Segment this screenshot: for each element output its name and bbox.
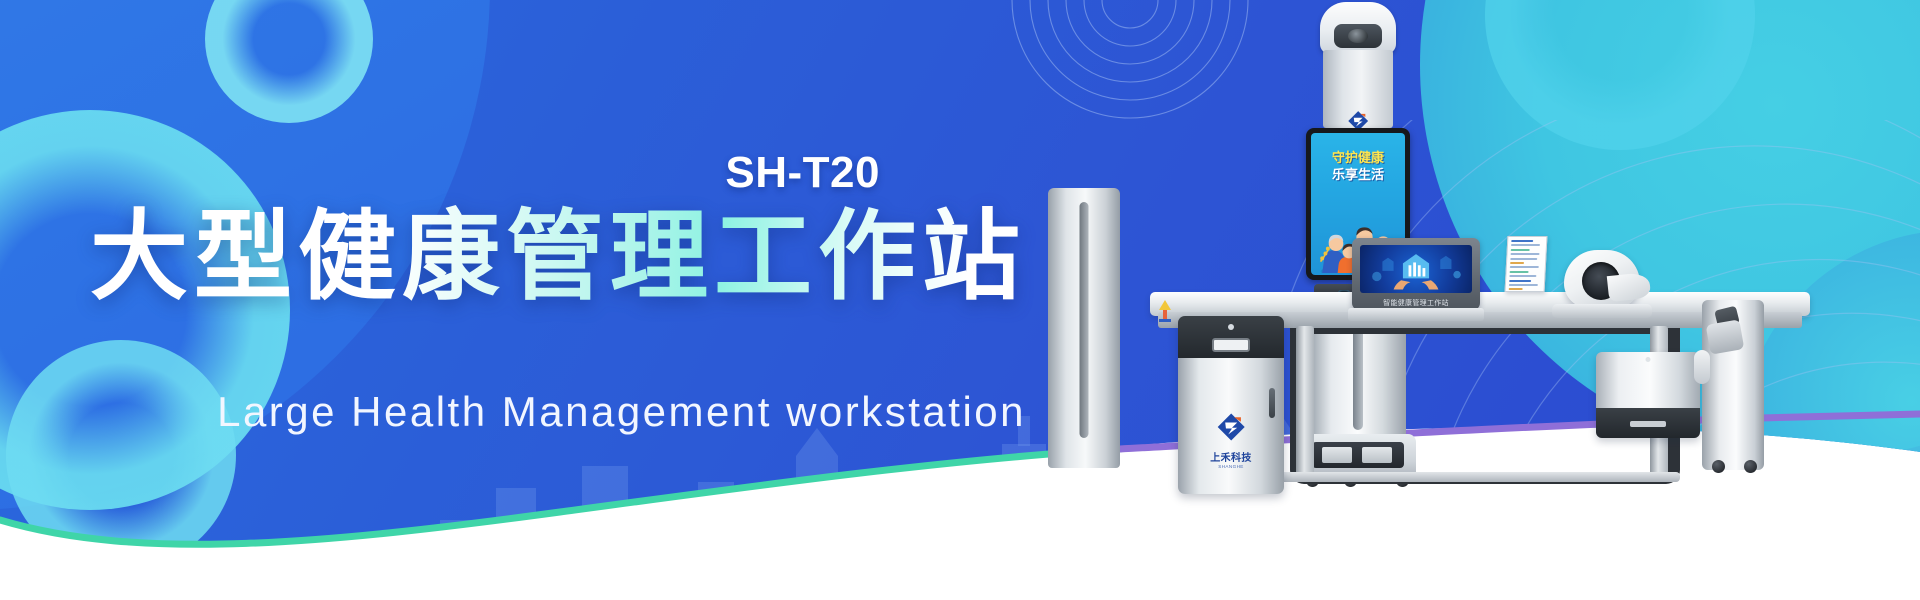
column-rail <box>1080 202 1089 438</box>
report-line <box>1509 288 1523 290</box>
desk-figurine-icon <box>1156 298 1174 324</box>
ultrasonic-height-sensor-icon <box>1334 24 1382 48</box>
product-banner: SH-T20 大型健康管理工作站 Large Health Management… <box>0 0 1920 600</box>
cabinet-brand-en: SHANGHE <box>1210 464 1252 469</box>
cabinet-top-panel <box>1178 316 1284 358</box>
printer-indicator-light <box>1646 357 1651 362</box>
report-line <box>1511 240 1533 242</box>
cabinet-indicator-light <box>1228 324 1234 330</box>
blood-pressure-monitor <box>1546 246 1656 328</box>
caster-wheel <box>1744 460 1757 473</box>
health-management-icon <box>1360 245 1472 293</box>
card-reader-slot[interactable] <box>1212 338 1250 352</box>
kiosk-upper-column: 上禾科技 SHANGHE <box>1323 50 1393 128</box>
accessory-holder <box>1694 350 1710 384</box>
cabinet-brand-logo: 上禾科技 SHANGHE <box>1210 412 1252 469</box>
report-line <box>1511 244 1541 246</box>
cabinet-door-handle[interactable] <box>1269 388 1275 418</box>
height-measure-column <box>1048 188 1120 468</box>
printed-report-card <box>1505 236 1548 292</box>
report-line <box>1509 280 1531 282</box>
report-line <box>1510 266 1540 268</box>
kiosk-head-unit <box>1320 2 1396 54</box>
report-printer <box>1596 352 1700 438</box>
report-line <box>1510 262 1524 264</box>
side-accessory-module <box>1702 300 1764 470</box>
monitor-keyboard-base <box>1348 308 1484 321</box>
caster-wheel <box>1712 460 1725 473</box>
report-line <box>1509 284 1539 286</box>
report-line <box>1509 275 1536 277</box>
workstation-monitor: 智能健康管理工作站 <box>1348 238 1484 322</box>
shanghe-logo-icon <box>1216 412 1246 442</box>
bpm-arm-rest <box>1607 272 1651 302</box>
accessory-cuff-icon <box>1706 319 1745 354</box>
product-photo-group: 上禾科技 SHANGHE 守护健康 乐享生活 <box>1030 0 1920 600</box>
bpm-base-tray <box>1552 304 1652 318</box>
desk-leg-left <box>1296 326 1314 478</box>
desk-foot-rail <box>1280 472 1680 482</box>
monitor-screen[interactable] <box>1360 245 1472 293</box>
decorative-ring-bottom-left <box>6 340 236 570</box>
printer-output-tray <box>1596 408 1700 438</box>
report-line <box>1511 249 1530 251</box>
cabinet-brand-cn: 上禾科技 <box>1210 449 1252 464</box>
report-line <box>1510 253 1540 255</box>
storage-cabinet: 上禾科技 SHANGHE <box>1178 316 1284 494</box>
monitor-bezel: 智能健康管理工作站 <box>1352 238 1480 310</box>
page-title: 大型健康管理工作站 <box>0 204 1026 310</box>
kiosk-slogan-line2: 乐享生活 <box>1311 164 1405 183</box>
page-subtitle: Large Health Management workstation <box>0 388 1026 436</box>
report-line <box>1510 258 1537 260</box>
model-code: SH-T20 <box>0 148 880 198</box>
monitor-caption: 智能健康管理工作站 <box>1352 298 1480 308</box>
report-line <box>1510 271 1529 273</box>
